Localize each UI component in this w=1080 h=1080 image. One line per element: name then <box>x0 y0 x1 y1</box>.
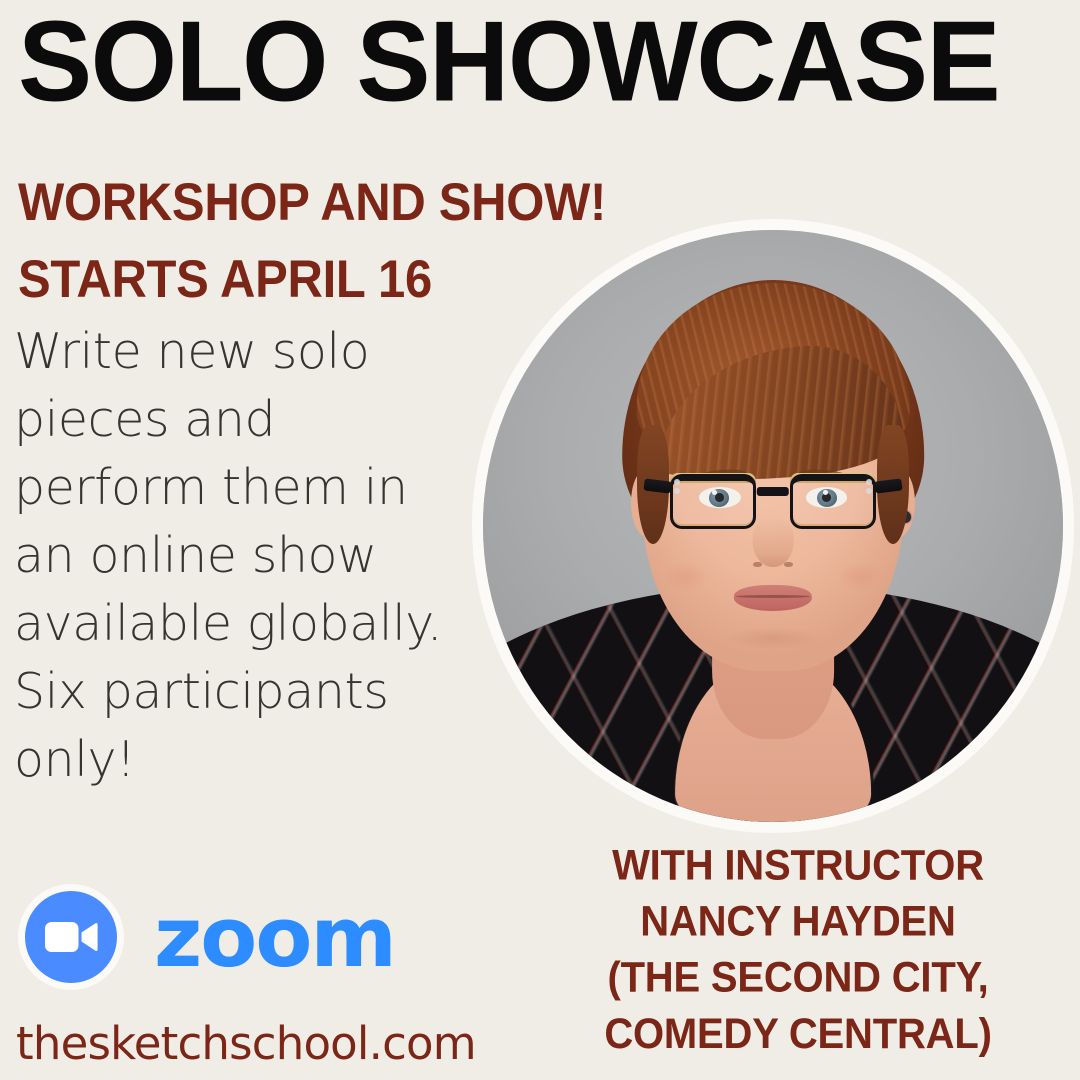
zoom-badge <box>18 884 124 990</box>
lip-line <box>736 595 810 598</box>
portrait-photo <box>483 230 1063 822</box>
credit-line-2: NANCY HAYDEN <box>524 894 1072 950</box>
nostril-right <box>784 562 793 568</box>
glasses-rivet <box>866 479 872 485</box>
body-copy: Write new solo pieces and perform them i… <box>14 318 466 794</box>
instructor-portrait <box>472 219 1074 833</box>
zoom-logo-lockup: zoom <box>18 884 395 990</box>
glasses-lens-left <box>670 474 756 528</box>
website-url: thesketchschool.com <box>16 1018 476 1070</box>
promo-poster: SOLO SHOWCASE WORKSHOP AND SHOW! STARTS … <box>0 0 1080 1080</box>
instructor-credit: WITH INSTRUCTOR NANCY HAYDEN (THE SECOND… <box>524 838 1072 1063</box>
glasses-rivet <box>866 488 872 494</box>
cheek-right <box>837 562 883 592</box>
cheek-left <box>663 562 709 592</box>
chin-shadow <box>727 627 820 651</box>
glasses-lens-right <box>790 474 876 528</box>
zoom-disc <box>25 891 117 983</box>
credit-line-3: (THE SECOND CITY, <box>524 950 1072 1006</box>
page-title: SOLO SHOWCASE <box>18 6 1080 116</box>
video-camera-icon <box>43 920 99 954</box>
credit-line-1: WITH INSTRUCTOR <box>524 838 1072 894</box>
glasses-bridge <box>757 487 789 496</box>
zoom-wordmark: zoom <box>154 896 395 979</box>
credit-line-4: COMEDY CENTRAL) <box>524 1007 1072 1063</box>
nose <box>753 517 794 567</box>
mouth <box>734 585 812 611</box>
